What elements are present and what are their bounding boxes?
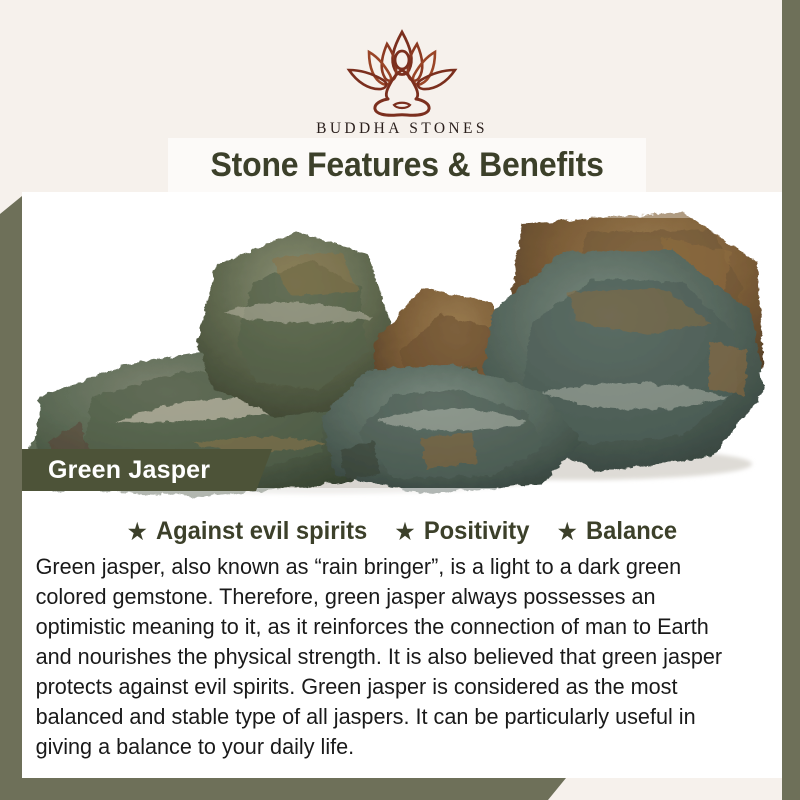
stone-name-banner: Green Jasper	[22, 449, 272, 491]
star-icon-3: ★	[556, 519, 579, 544]
lotus-meditation-icon	[327, 26, 477, 118]
decor-band-left	[0, 196, 22, 800]
star-icon-2: ★	[394, 519, 417, 544]
brand-logo: BUDDHA STONES	[22, 26, 782, 138]
infographic-page: BUDDHA STONES Stone Features & Benefits	[0, 0, 800, 800]
header: BUDDHA STONES Stone Features & Benefits	[22, 0, 782, 196]
benefit-item-1: Against evil spirits	[155, 517, 368, 545]
benefits-list: ★ Against evil spirits ★ Positivity ★ Ba…	[41, 505, 763, 546]
page-title: Stone Features & Benefits	[210, 146, 603, 185]
decor-band-right	[782, 0, 800, 800]
brand-name: BUDDHA STONES	[22, 120, 782, 138]
decor-band-bottom	[0, 778, 566, 800]
title-banner: Stone Features & Benefits	[168, 138, 646, 192]
description-text: Green jasper, also known as “rain bringe…	[22, 552, 759, 762]
content-panel: ★ Against evil spirits ★ Positivity ★ Ba…	[22, 505, 782, 778]
star-icon-1: ★	[126, 519, 149, 544]
benefit-item-2: Positivity	[423, 517, 530, 545]
stone-photo: Green Jasper	[22, 192, 782, 505]
stone-name-label: Green Jasper	[48, 456, 210, 485]
benefit-item-3: Balance	[585, 517, 678, 545]
